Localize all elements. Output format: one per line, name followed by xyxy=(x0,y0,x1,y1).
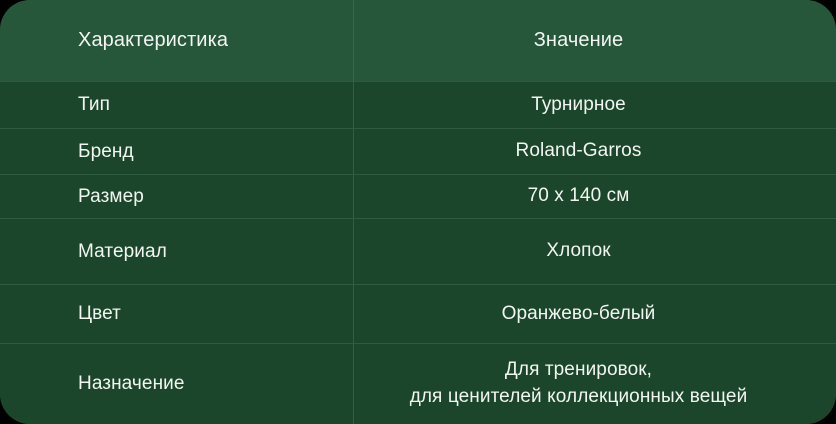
table-row: Назначение Для тренировок, для ценителей… xyxy=(0,343,836,424)
header-cell-characteristic: Характеристика xyxy=(0,29,353,52)
row-value-brand: Roland-Garros xyxy=(353,138,836,165)
row-key-material: Материал xyxy=(0,241,353,263)
table-header-row: Характеристика Значение xyxy=(0,0,836,81)
specifications-card: Характеристика Значение Тип Турнирное Бр… xyxy=(0,0,836,424)
table-row: Цвет Оранжево-белый xyxy=(0,284,836,343)
table-row: Размер 70 х 140 см xyxy=(0,174,836,218)
table-row: Тип Турнирное xyxy=(0,81,836,128)
row-value-size: 70 х 140 см xyxy=(353,183,836,210)
row-value-type: Турнирное xyxy=(353,92,836,119)
row-key-type: Тип xyxy=(0,94,353,116)
row-value-material: Хлопок xyxy=(353,238,836,265)
header-cell-value: Значение xyxy=(353,26,836,54)
row-key-size: Размер xyxy=(0,186,353,208)
row-key-purpose: Назначение xyxy=(0,373,353,395)
row-value-color: Оранжево-белый xyxy=(353,301,836,328)
table-row: Материал Хлопок xyxy=(0,218,836,284)
table-row: Бренд Roland-Garros xyxy=(0,128,836,174)
row-key-brand: Бренд xyxy=(0,141,353,163)
row-key-color: Цвет xyxy=(0,303,353,325)
row-value-purpose: Для тренировок, для ценителей коллекцион… xyxy=(353,357,836,411)
